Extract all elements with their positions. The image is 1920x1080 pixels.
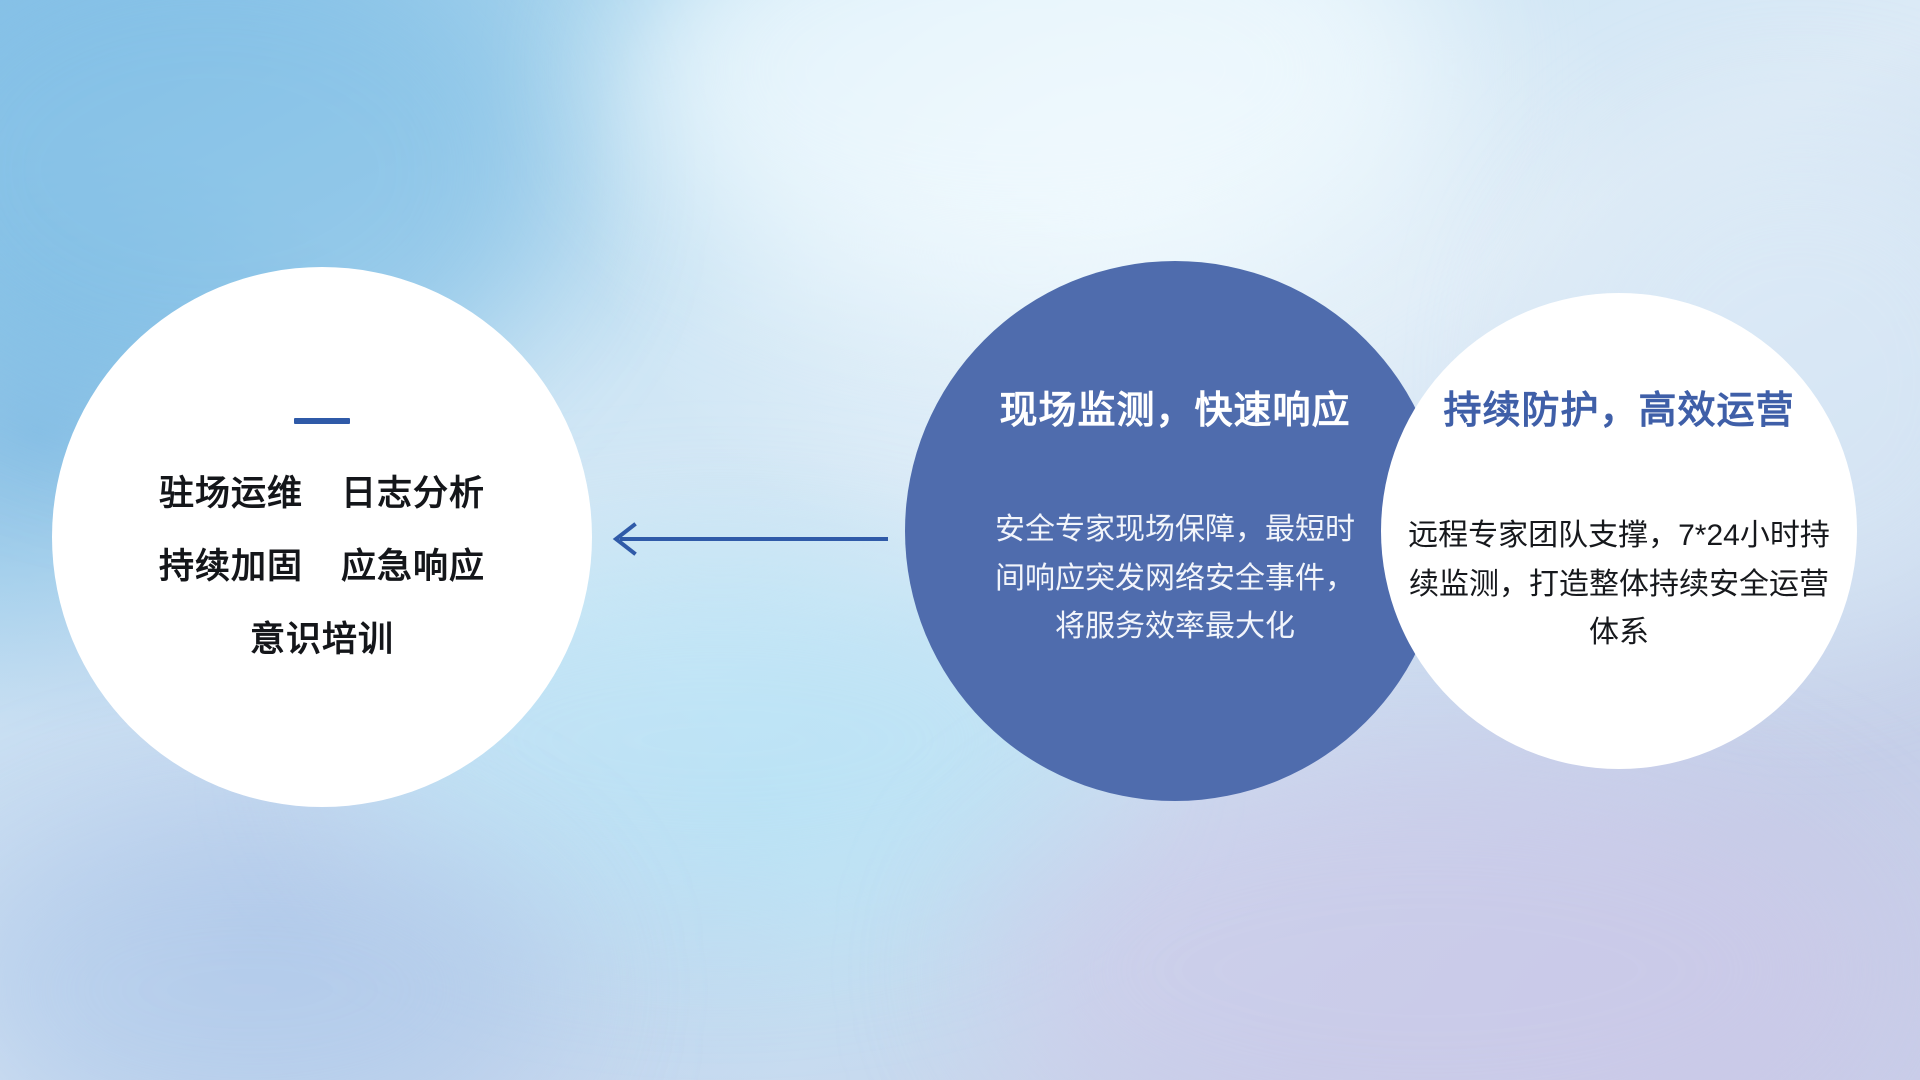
background-wash-bottom-right xyxy=(980,760,1880,1080)
background-wash-top-center xyxy=(620,0,1440,300)
capability-tag[interactable]: 持续加固 xyxy=(159,549,303,584)
mid-bubble-content: 现场监测，快速响应 安全专家现场保障，最短时间响应突发网络安全事件，将服务效率最… xyxy=(905,261,1445,801)
service-capability-bubble[interactable]: 驻场运维 日志分析 持续加固 应急响应 意识培训 xyxy=(52,267,592,807)
capability-tag[interactable]: 驻场运维 xyxy=(159,476,303,511)
background-wash-bottom-left xyxy=(0,820,560,1080)
left-bubble-content: 驻场运维 日志分析 持续加固 应急响应 意识培训 xyxy=(159,418,485,657)
right-bubble-content: 持续防护，高效运营 远程专家团队支撑，7*24小时持续监测，打造整体持续安全运营… xyxy=(1381,293,1857,769)
continuous-protection-description: 远程专家团队支撑，7*24小时持续监测，打造整体持续安全运营体系 xyxy=(1404,512,1834,658)
onsite-monitoring-description: 安全专家现场保障，最短时间响应突发网络安全事件，将服务效率最大化 xyxy=(995,506,1355,652)
continuous-protection-title: 持续防护，高效运营 xyxy=(1443,379,1794,434)
capability-tag[interactable]: 日志分析 xyxy=(341,476,485,511)
capability-row: 持续加固 应急响应 xyxy=(159,549,485,584)
onsite-monitoring-bubble[interactable]: 现场监测，快速响应 安全专家现场保障，最短时间响应突发网络安全事件，将服务效率最… xyxy=(905,261,1445,801)
continuous-protection-bubble[interactable]: 持续防护，高效运营 远程专家团队支撑，7*24小时持续监测，打造整体持续安全运营… xyxy=(1381,293,1857,769)
title-divider-rule xyxy=(294,418,350,424)
capability-row: 驻场运维 日志分析 xyxy=(159,476,485,511)
flow-arrow-left-icon xyxy=(600,516,890,562)
capability-tag[interactable]: 应急响应 xyxy=(341,549,485,584)
capability-tag[interactable]: 意识培训 xyxy=(250,622,394,657)
onsite-monitoring-title: 现场监测，快速响应 xyxy=(999,379,1350,434)
slide-canvas: 驻场运维 日志分析 持续加固 应急响应 意识培训 现场监测，快速响应 安全专家现… xyxy=(0,0,1920,1080)
capability-row: 意识培训 xyxy=(250,622,394,657)
